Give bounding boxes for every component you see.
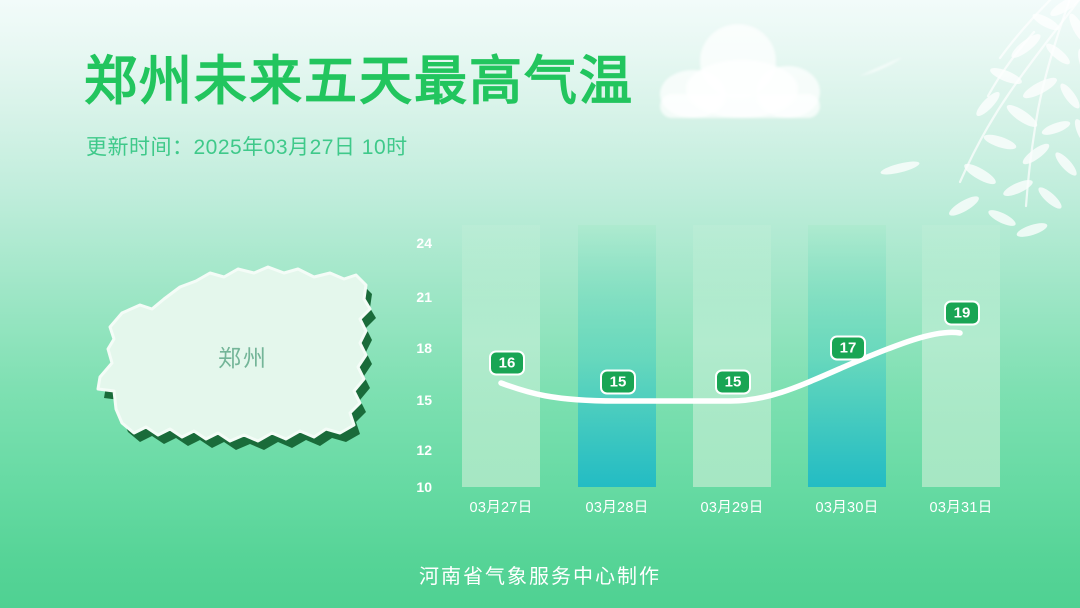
page-title: 郑州未来五天最高气温 [84,55,634,108]
data-label: 19 [944,301,980,326]
temperature-chart: 24 21 18 15 12 10 16 15 15 17 19 03月27日 … [408,225,1028,525]
y-axis-tick: 12 [392,442,432,458]
map-shape-icon [78,243,408,473]
y-axis-tick: 15 [392,392,432,408]
zhengzhou-map: 郑州 [78,243,408,473]
chart-bar [578,225,656,487]
chart-bar [693,225,771,487]
x-axis-label: 03月28日 [578,496,656,517]
y-axis-tick: 10 [392,479,432,495]
y-axis-tick: 18 [392,340,432,356]
x-axis-label: 03月27日 [462,496,540,517]
x-axis-label: 03月29日 [693,496,771,517]
y-axis-tick: 24 [392,235,432,251]
willow-branch-icon [860,0,1080,242]
data-label: 16 [489,351,525,376]
data-label: 17 [830,336,866,361]
floating-leaf-icon [858,56,904,78]
weather-forecast-poster: 郑州未来五天最高气温 更新时间：2025年03月27日 10时 郑州 24 21… [0,0,1080,608]
cloud-icon [660,18,820,118]
x-axis-label: 03月31日 [922,496,1000,517]
update-time-label: 更新时间：2025年03月27日 10时 [86,131,408,161]
y-axis-tick: 21 [392,289,432,305]
footer-credit: 河南省气象服务中心制作 [0,560,1080,589]
data-label: 15 [715,370,751,395]
x-axis-label: 03月30日 [808,496,886,517]
data-label: 15 [600,370,636,395]
chart-bar [922,225,1000,487]
